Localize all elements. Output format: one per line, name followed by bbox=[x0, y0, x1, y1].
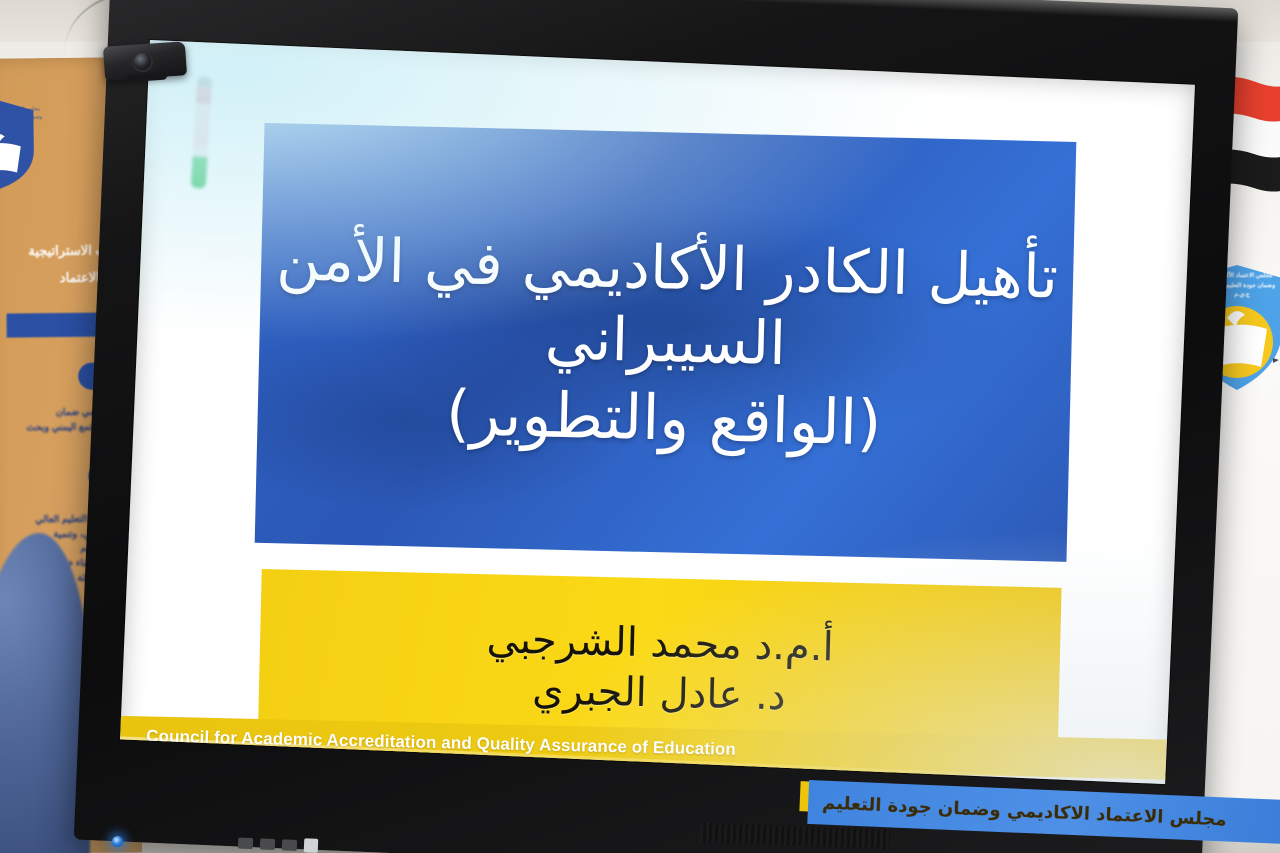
poster-logo-caption: مجلس الاعتماد الأكاديمي وضمان جودة التعل… bbox=[0, 106, 45, 129]
webcam[interactable] bbox=[103, 41, 187, 81]
bezel-button-menu[interactable] bbox=[260, 838, 275, 850]
slide-author-2: د. عادل الجبري bbox=[532, 667, 786, 719]
presentation-slide: تأهيل الكادر الأكاديمي في الأمن السيبران… bbox=[120, 40, 1195, 784]
slide-title-block: تأهيل الكادر الأكاديمي في الأمن السيبران… bbox=[255, 123, 1077, 562]
slide-title-line-2: السيبراني bbox=[544, 303, 787, 382]
bezel-button-power[interactable] bbox=[282, 839, 297, 851]
interactive-flat-panel-display[interactable]: تأهيل الكادر الأكاديمي في الأمن السيبران… bbox=[74, 0, 1239, 853]
panel-screen[interactable]: تأهيل الكادر الأكاديمي في الأمن السيبران… bbox=[120, 40, 1195, 784]
slide-author-1: أ.م.د محمد الشرجبي bbox=[486, 616, 834, 670]
slide-title-line-3: (الواقع والتطوير) bbox=[445, 376, 882, 462]
slide-title-line-1: تأهيل الكادر الأكاديمي في الأمن bbox=[276, 223, 1059, 315]
bezel-button-extra[interactable] bbox=[304, 838, 319, 853]
screenshot-scene: مجلس الاعتماد الأكاديمي وضمان جودة التعل… bbox=[0, 0, 1280, 853]
bezel-button-input[interactable] bbox=[238, 837, 253, 849]
bottom-arabic-banner-text: مجلس الاعتماد الاكاديمي وضمان جودة التعل… bbox=[808, 791, 1227, 830]
